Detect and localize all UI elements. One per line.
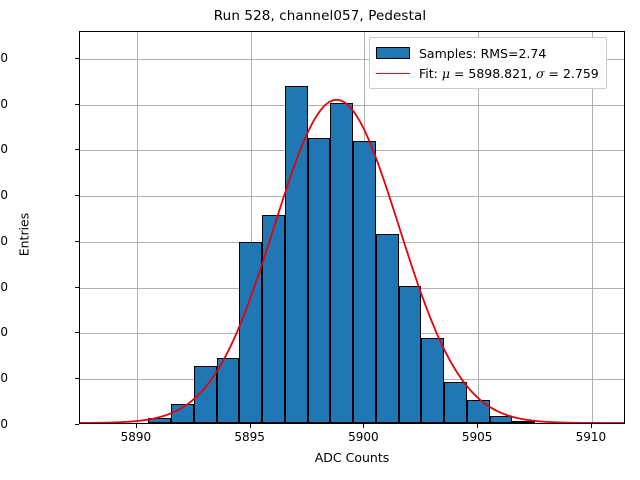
histogram-bar — [171, 404, 194, 423]
histogram-bar — [399, 286, 422, 423]
y-tick-label: 800 — [0, 234, 8, 248]
histogram-bar — [353, 141, 376, 424]
y-tick-label: 1400 — [0, 97, 8, 111]
y-tick-label: 1200 — [0, 142, 8, 156]
y-tick-label: 400 — [0, 325, 8, 339]
legend-fit-mu-value: = 5898.821, — [450, 66, 536, 81]
x-tick-label: 5895 — [234, 430, 265, 444]
y-tick-mark — [75, 332, 79, 333]
x-tick-label: 5900 — [348, 430, 379, 444]
x-tick-mark — [477, 424, 478, 428]
y-tick-mark — [75, 241, 79, 242]
y-tick-mark — [75, 195, 79, 196]
histogram-bar — [512, 421, 535, 423]
y-tick-mark — [75, 104, 79, 105]
page-title: Run 528, channel057, Pedestal — [0, 8, 640, 24]
histogram-bar — [308, 138, 331, 423]
x-tick-label: 5905 — [462, 430, 493, 444]
x-tick-mark — [591, 424, 592, 428]
histogram-bar — [148, 418, 171, 423]
y-tick-mark — [75, 149, 79, 150]
x-tick-mark — [136, 424, 137, 428]
legend: Samples: RMS=2.74 Fit: μ = 5898.821, σ =… — [369, 37, 607, 89]
y-tick-mark — [75, 424, 79, 425]
y-tick-label: 600 — [0, 280, 8, 294]
y-tick-label: 200 — [0, 371, 8, 385]
histogram-bar — [490, 416, 513, 423]
histogram-bar — [421, 338, 444, 423]
histogram-bar — [376, 234, 399, 423]
x-axis-label: ADC Counts — [79, 450, 625, 465]
legend-label-fit: Fit: μ = 5898.821, σ = 2.759 — [419, 66, 599, 81]
plot-area — [79, 31, 625, 424]
histogram-bar — [262, 215, 285, 423]
x-tick-label: 5890 — [121, 430, 152, 444]
legend-patch-icon — [376, 47, 410, 59]
histogram-bar — [217, 358, 240, 423]
legend-fit-prefix: Fit: — [419, 66, 442, 81]
y-tick-label: 1600 — [0, 51, 8, 65]
legend-fit-sigma-symbol: σ — [536, 66, 545, 81]
histogram-bar — [285, 86, 308, 423]
y-tick-label: 1000 — [0, 188, 8, 202]
y-tick-mark — [75, 287, 79, 288]
figure: Run 528, channel057, Pedestal 0200400600… — [0, 0, 640, 480]
legend-item-samples: Samples: RMS=2.74 — [376, 43, 599, 63]
legend-fit-mu-symbol: μ — [442, 66, 450, 81]
x-tick-mark — [363, 424, 364, 428]
legend-line-icon — [376, 73, 410, 74]
histogram-bar — [330, 103, 353, 423]
histogram-bar — [194, 366, 217, 423]
histogram-bar — [444, 382, 467, 423]
legend-label-samples: Samples: RMS=2.74 — [419, 46, 546, 61]
y-tick-mark — [75, 58, 79, 59]
y-tick-mark — [75, 378, 79, 379]
histogram-bar — [467, 400, 490, 423]
legend-fit-sigma-value: = 2.759 — [545, 66, 599, 81]
x-tick-mark — [250, 424, 251, 428]
y-axis-label: Entries — [17, 135, 32, 335]
y-tick-label: 0 — [0, 417, 8, 431]
x-tick-label: 5910 — [576, 430, 607, 444]
legend-item-fit: Fit: μ = 5898.821, σ = 2.759 — [376, 63, 599, 83]
histogram-bar — [239, 242, 262, 423]
histogram-bars — [80, 32, 624, 423]
